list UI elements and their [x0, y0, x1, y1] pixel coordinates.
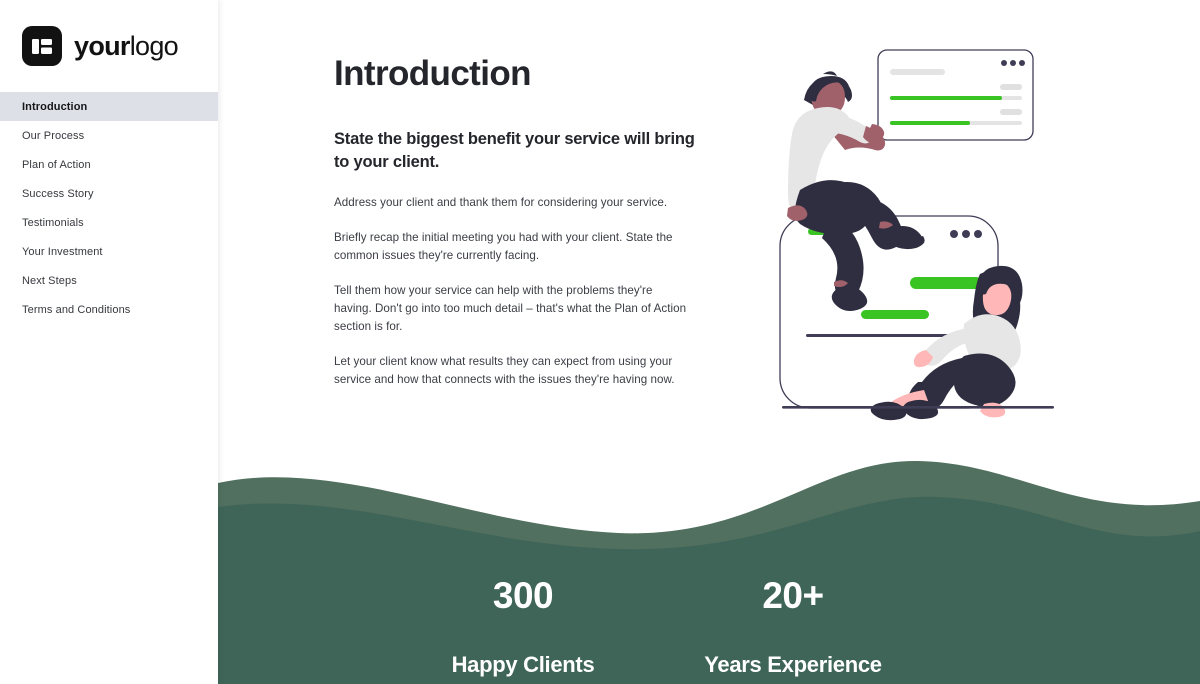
paragraph: Tell them how your service can help with…: [334, 282, 690, 336]
sidebar-item-label: Our Process: [22, 130, 84, 142]
main-content: Introduction State the biggest benefit y…: [218, 0, 1200, 684]
sidebar-item-terms-and-conditions[interactable]: Terms and Conditions: [0, 295, 218, 324]
sidebar-item-introduction[interactable]: Introduction: [0, 92, 218, 121]
logo-wordmark: yourlogo: [74, 33, 178, 60]
sidebar-item-our-process[interactable]: Our Process: [0, 121, 218, 150]
sidebar-item-testimonials[interactable]: Testimonials: [0, 208, 218, 237]
sidebar-item-label: Success Story: [22, 188, 94, 200]
page-title: Introduction: [334, 54, 531, 94]
sidebar-item-label: Your Investment: [22, 246, 103, 258]
stats-row: 300 Happy Clients 20+ Years Experience: [218, 449, 1200, 684]
sidebar-nav: Introduction Our Process Plan of Action …: [0, 92, 218, 324]
sidebar-item-label: Introduction: [22, 101, 87, 113]
sidebar-item-plan-of-action[interactable]: Plan of Action: [0, 150, 218, 179]
stat-years-experience: 20+ Years Experience: [658, 577, 928, 684]
sidebar-item-label: Plan of Action: [22, 159, 91, 171]
proposal-page: yourlogo Introduction Our Process Plan o…: [0, 0, 1200, 684]
sidebar-item-your-investment[interactable]: Your Investment: [0, 237, 218, 266]
paragraph: Address your client and thank them for c…: [334, 194, 690, 212]
lead-statement: State the biggest benefit your service w…: [334, 128, 704, 175]
logo[interactable]: yourlogo: [0, 0, 218, 92]
sidebar-item-label: Testimonials: [22, 217, 84, 229]
stat-happy-clients: 300 Happy Clients: [388, 577, 658, 684]
sidebar-item-next-steps[interactable]: Next Steps: [0, 266, 218, 295]
people-with-dashboard-cards-illustration: [768, 38, 1068, 423]
sidebar: yourlogo Introduction Our Process Plan o…: [0, 0, 218, 684]
sidebar-item-label: Next Steps: [22, 275, 77, 287]
layout-grid-icon: [22, 26, 62, 66]
paragraph: Let your client know what results they c…: [334, 353, 690, 389]
stat-value: 20+: [658, 577, 928, 614]
sidebar-item-label: Terms and Conditions: [22, 304, 130, 316]
stat-value: 300: [388, 577, 658, 614]
logo-text-light: logo: [130, 31, 178, 61]
logo-text-bold: your: [74, 31, 130, 61]
paragraph: Briefly recap the initial meeting you ha…: [334, 229, 690, 265]
stat-label: Happy Clients: [388, 654, 658, 676]
sidebar-item-success-story[interactable]: Success Story: [0, 179, 218, 208]
stat-label: Years Experience: [658, 654, 928, 676]
body-copy: Address your client and thank them for c…: [334, 194, 690, 406]
